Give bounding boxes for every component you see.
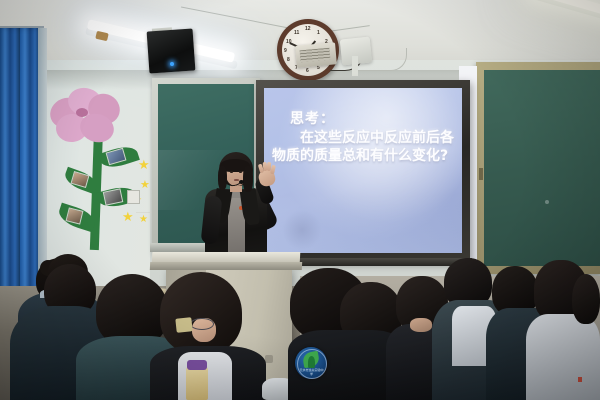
emblem-text: 天水市逸夫实验中学 [299,368,324,376]
microphone-tip-icon [239,180,244,184]
water-bottle [186,366,208,400]
flower-center [76,108,88,117]
slide-body: 在这些反应中反应前后各物质的质量总和有什么变化? [272,130,456,166]
slide-content: 思考： 在这些反应中反应前后各物质的质量总和有什么变化? [272,108,456,166]
student-head [572,274,600,324]
star-decoration: ★ [139,215,148,225]
teacher-hair-side [243,166,253,192]
star-decoration: ★ [138,158,150,171]
classroom-photo: 12 1 2 3 4 5 6 7 8 9 10 11 ★ ★ ★ ★ ★ [0,0,600,400]
clock-num: 9 [284,48,287,54]
star-decoration: ★ [140,180,150,191]
clock-num: 8 [287,57,290,63]
eyeglasses-icon [190,318,214,330]
podium-knob [265,355,273,363]
watermark-dot [578,377,582,382]
clock-num: 6 [306,68,309,74]
clock-num: 11 [294,30,299,36]
bottle-cap [187,360,207,370]
slide-heading: 思考： [290,108,456,128]
student-neck [410,318,432,332]
wall-speaker [147,28,196,73]
clock-num: 1 [317,30,320,36]
star-decoration: ★ [122,210,134,223]
board-clip [479,168,483,180]
board-mark [545,200,549,204]
blue-window-curtain [0,28,40,328]
school-watermark: 天水市逸夫实验中学 Tianshui YiFu experimental Mid… [292,336,600,394]
speaker-led-icon [170,62,174,66]
hand-shadow [282,210,322,250]
podium-top-edge [150,262,302,270]
green-chalkboard-right [484,70,600,266]
clock-num: 12 [305,26,311,32]
hair-clip-icon [175,317,192,333]
projector-cable [358,48,407,71]
